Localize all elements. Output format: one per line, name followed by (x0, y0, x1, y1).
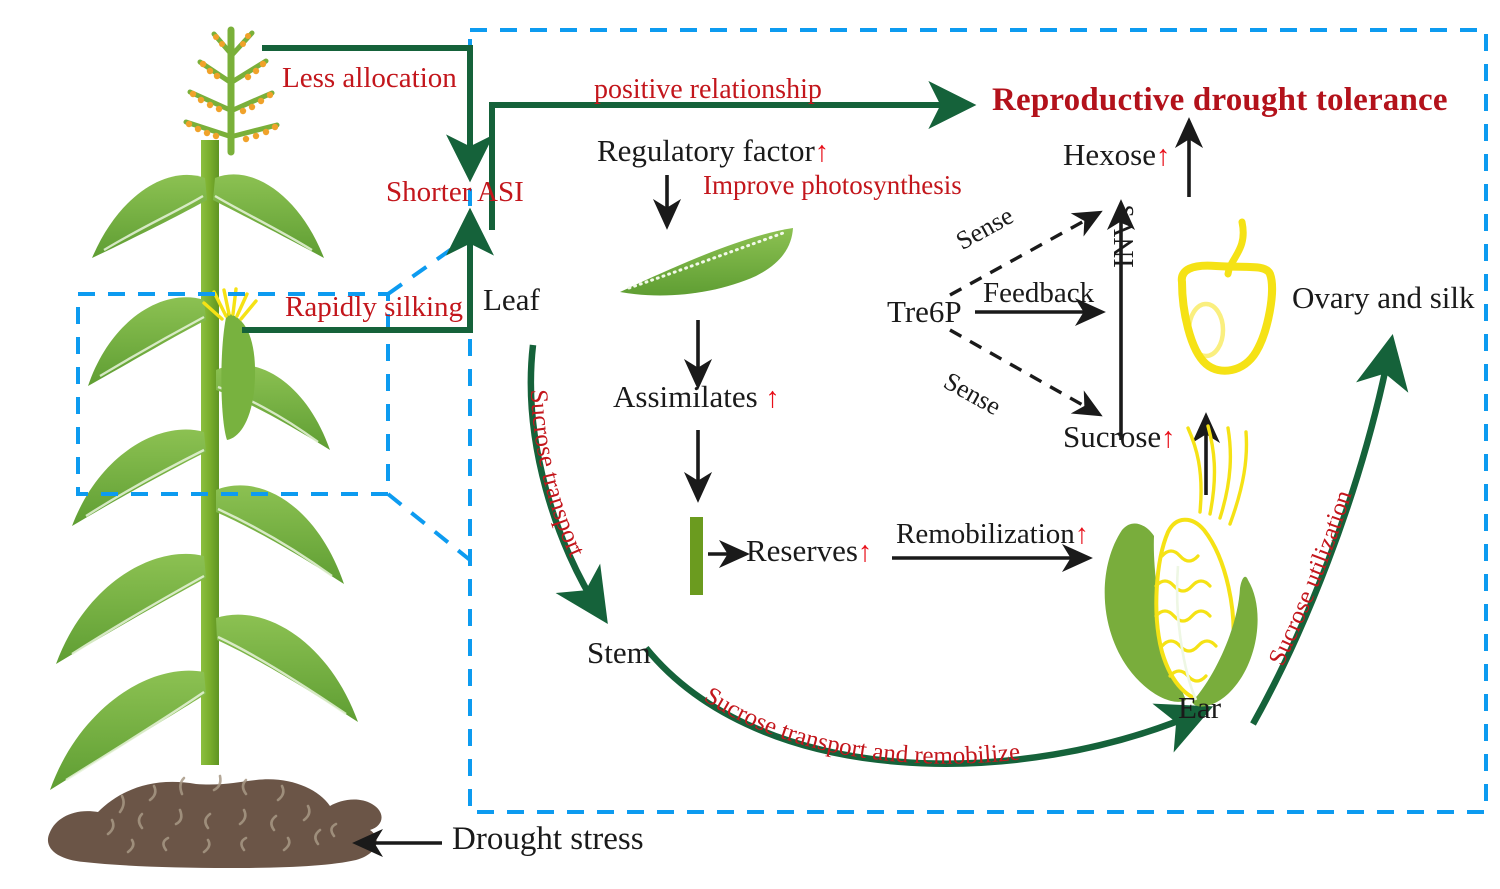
stem-label: Stem (587, 637, 651, 668)
leaf-illustration (620, 228, 793, 295)
up-arrow-icon: ↑ (858, 536, 873, 568)
stem-reserve-bar-icon (690, 517, 703, 595)
remobilization-text: Remobilization (896, 518, 1075, 550)
regulatory-factor-label: Regulatory factor↑ (597, 135, 829, 167)
page-title: Reproductive drought tolerance (992, 84, 1448, 117)
up-arrow-icon: ↑ (1161, 422, 1176, 454)
reserves-text: Reserves (746, 533, 858, 568)
regulatory-factor-text: Regulatory factor (597, 133, 815, 168)
improve-photosynthesis-label: Improve photosynthesis (703, 172, 962, 199)
zoom-connector-bottom (388, 494, 470, 560)
ovary-kernel-icon (1182, 222, 1272, 371)
leaf-label: Leaf (483, 284, 540, 315)
ovary-and-silk-label: Ovary and silk (1292, 282, 1475, 313)
maize-plant-illustration (48, 30, 382, 868)
less-allocation-label: Less allocation (282, 64, 457, 93)
diagram-canvas: Sucrose transport Sucrose transport and … (0, 0, 1500, 889)
up-arrow-icon: ↑ (765, 382, 780, 414)
sucrose-utilization-label: Sucrose utilization (1264, 487, 1358, 670)
up-arrow-icon: ↑ (1075, 519, 1089, 550)
up-arrow-icon: ↑ (815, 136, 830, 168)
sucrose-text: Sucrose (1063, 419, 1161, 454)
feedback-label: Feedback (983, 279, 1094, 308)
corn-ear-illustration (1105, 426, 1258, 707)
assimilates-text: Assimilates (613, 379, 758, 414)
positive-relationship-label: positive relationship (594, 76, 822, 104)
hexose-text: Hexose (1063, 137, 1156, 172)
ear-label: Ear (1178, 692, 1221, 723)
up-arrow-icon: ↑ (1156, 140, 1171, 172)
sucrose-transport-remobilize-label: Sucrose transport and remobilize (700, 682, 1022, 770)
shorter-asi-label: Shorter ASI (386, 178, 524, 207)
soil-mound (48, 776, 382, 868)
invs-label: INVs (1110, 205, 1139, 268)
zoom-connector-top (388, 236, 470, 294)
tre6p-label: Tre6P (887, 296, 962, 327)
reserves-label: Reserves↑ (746, 535, 872, 567)
rapidly-silking-label: Rapidly silking (285, 293, 463, 322)
sucrose-transport-label: Sucrose transport (525, 389, 590, 561)
hexose-label: Hexose↑ (1063, 139, 1170, 171)
assimilates-label: Assimilates ↑ (613, 381, 780, 413)
remobilization-label: Remobilization↑ (896, 520, 1089, 549)
drought-stress-label: Drought stress (452, 823, 644, 856)
sucrose-label: Sucrose↑ (1063, 421, 1176, 453)
